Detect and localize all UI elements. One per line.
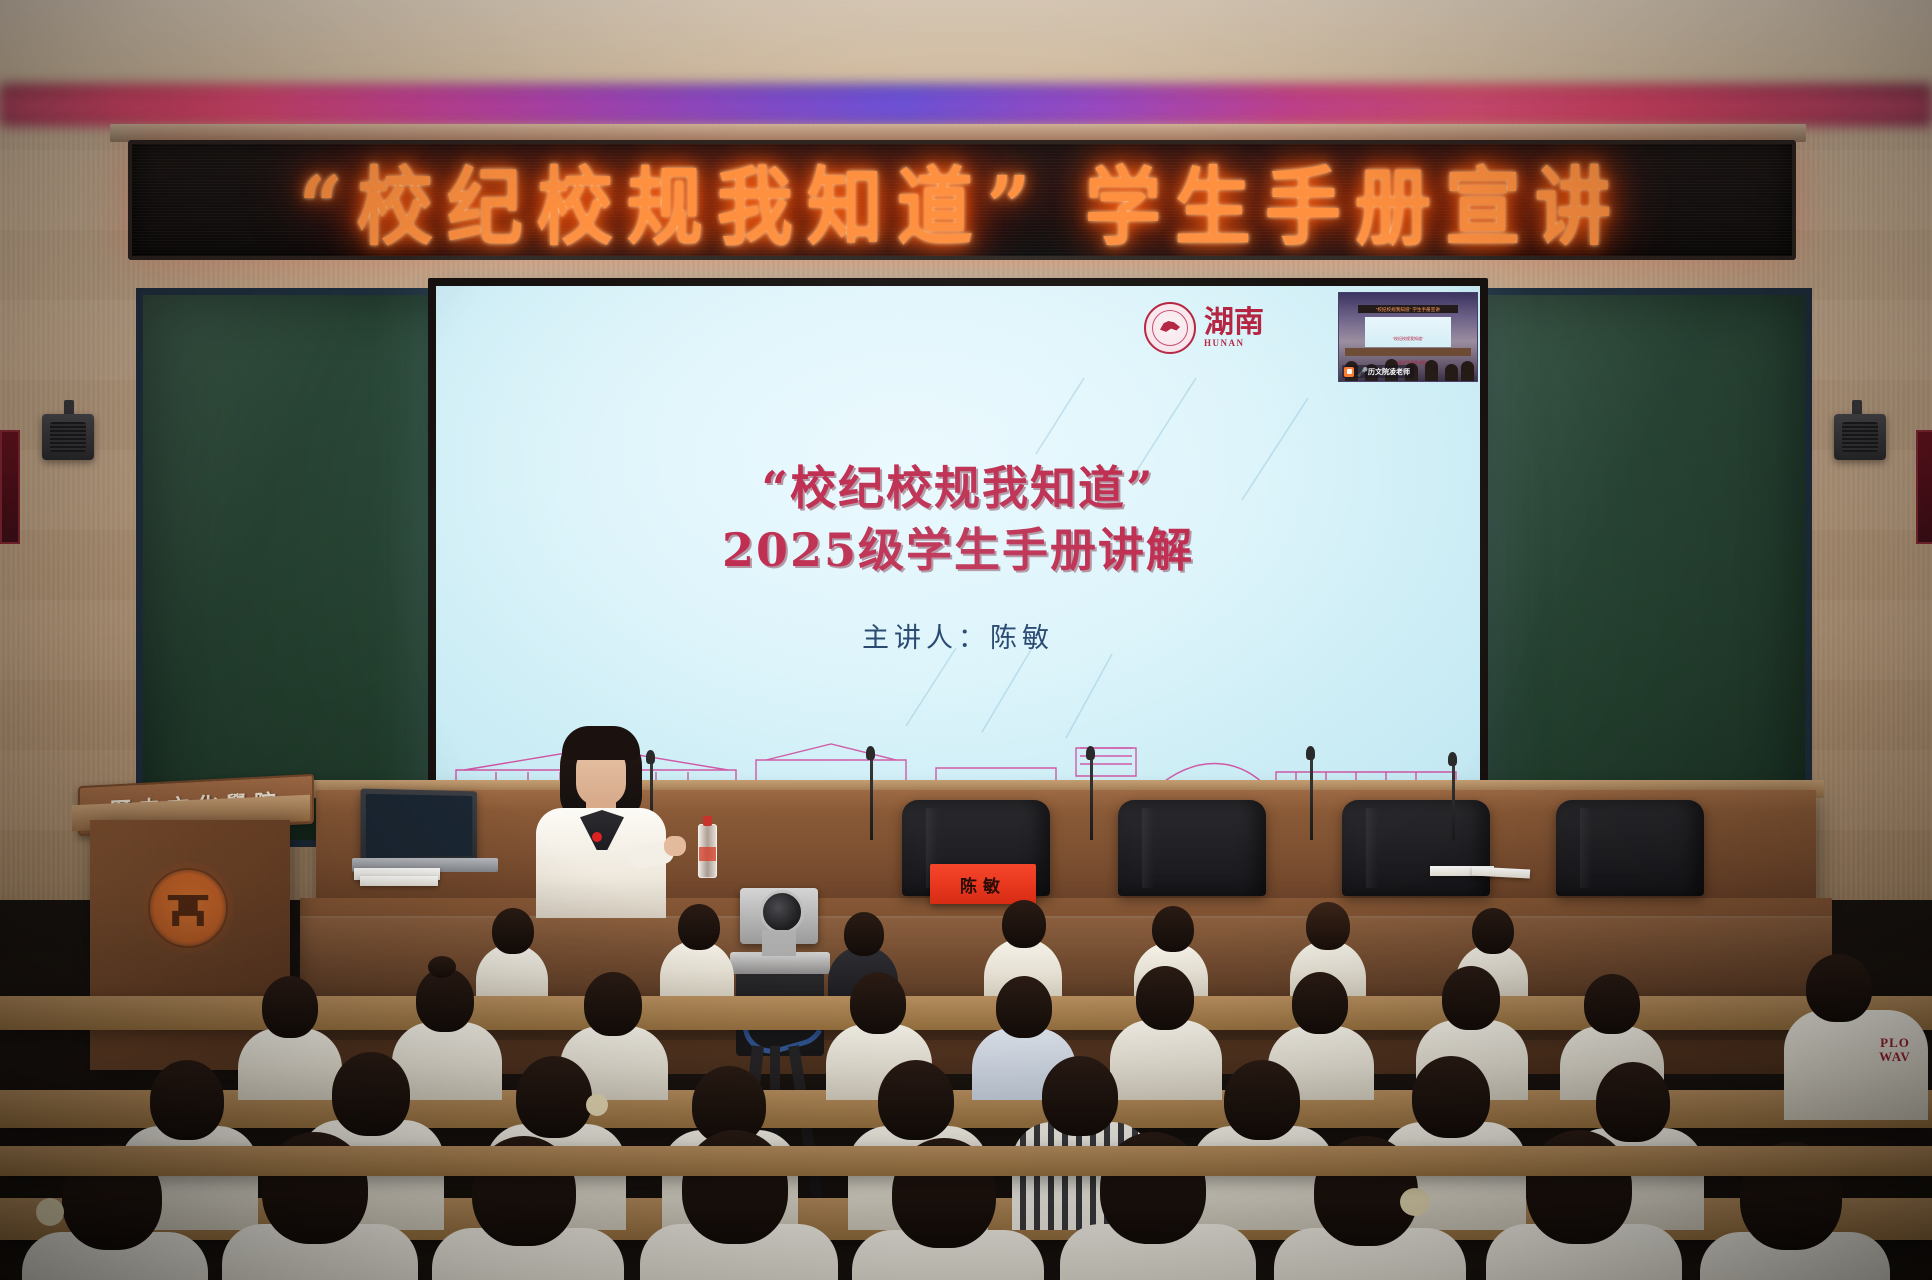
- microphone-stand: [1452, 762, 1455, 840]
- wall-panel-right: [1916, 430, 1932, 544]
- audience-head: [1306, 902, 1350, 950]
- pip-participant-name: 历文院凌老师: [1368, 367, 1410, 377]
- wall-panel-left: [0, 430, 20, 544]
- audience-head: [150, 1060, 224, 1140]
- laptop-display: [366, 794, 472, 858]
- audience-head: [1584, 974, 1640, 1034]
- audience-head: [844, 912, 884, 956]
- audience-head: [262, 976, 318, 1038]
- water-bottle: [698, 824, 717, 878]
- wall-speaker-left: [42, 414, 94, 460]
- audience-head: [332, 1052, 410, 1136]
- audience-head: [1152, 906, 1194, 952]
- microphone-stand: [1090, 756, 1093, 840]
- seal-icon: [1144, 302, 1196, 354]
- chalkboard-sheen-right: [1487, 295, 1805, 840]
- slide-speaker-line: 主讲人：陈敏: [436, 616, 1480, 655]
- slide-title-line1: “校纪校规我知道”: [436, 458, 1480, 520]
- audience-head: [1292, 972, 1348, 1034]
- video-call-overlay[interactable]: “校纪校规我知道” 学生手册宣讲 “校纪校规我知道” 2025级学生手册讲解 🎤…: [1338, 292, 1478, 382]
- audience-head: [1596, 1062, 1670, 1142]
- audience-head: [1136, 966, 1194, 1030]
- pip-slide: “校纪校规我知道” 2025级学生手册讲解: [1365, 317, 1451, 347]
- hair-tie: [1400, 1188, 1430, 1216]
- hair-tie: [36, 1198, 64, 1226]
- slide-title: “校纪校规我知道” 2025级学生手册讲解: [436, 458, 1480, 581]
- presenter-hand: [664, 836, 686, 856]
- front-desk-row: [0, 1146, 1932, 1176]
- pip-banner: “校纪校规我知道” 学生手册宣讲: [1358, 305, 1457, 313]
- slide-title-line2: 2025级学生手册讲解: [436, 520, 1480, 582]
- audience-head: [878, 1060, 954, 1140]
- shirt-text-line2: WAV: [1862, 1050, 1928, 1064]
- shirt-text: PLO WAV: [1862, 1036, 1928, 1064]
- pip-banner-text: “校纪校规我知道” 学生手册宣讲: [1376, 306, 1440, 312]
- audience-person: [1784, 1010, 1928, 1120]
- microphone-stand: [1310, 756, 1313, 840]
- audience-head: [996, 976, 1052, 1038]
- hair-bun: [428, 956, 456, 978]
- audience-head: [584, 972, 642, 1036]
- meeting-app-icon: [1344, 367, 1354, 377]
- shirt-text-line1: PLO: [1862, 1036, 1928, 1050]
- audience-person: [1110, 1020, 1222, 1100]
- audience-head: [678, 904, 720, 950]
- chalkboard-sheen-left: [143, 295, 453, 840]
- audience-head: [1224, 1060, 1300, 1140]
- presenter-badge: [592, 832, 602, 842]
- audience-head: [1472, 908, 1514, 954]
- audience-area: PLO WAV: [0, 880, 1932, 1280]
- audience-person: [1192, 1126, 1334, 1230]
- audience-head: [492, 908, 534, 954]
- laptop-screen: [361, 789, 477, 864]
- audience-head: [850, 972, 906, 1034]
- led-banner: “校纪校规我知道” 学生手册宣讲: [128, 140, 1796, 260]
- microphone-head: [1448, 752, 1457, 766]
- pip-participant-label: 🎤 历文院凌老师: [1342, 365, 1414, 378]
- microphone-head: [866, 746, 875, 760]
- chalkboard-left: [136, 288, 460, 847]
- audience-head: [1042, 1056, 1118, 1136]
- audience-person: [238, 1028, 342, 1100]
- microphone-head: [1086, 746, 1095, 760]
- wall-speaker-right: [1834, 414, 1886, 460]
- audience-head: [1412, 1056, 1490, 1138]
- audience-head: [516, 1056, 592, 1138]
- microphone-icon: 🎤: [1357, 367, 1365, 377]
- slide-university-logo: 湖南 HUNAN: [1144, 298, 1334, 358]
- chalkboard-right: [1480, 288, 1812, 847]
- audience-head: [1442, 966, 1500, 1030]
- microphone-stand: [870, 756, 873, 840]
- hair-tie: [586, 1094, 608, 1116]
- lecture-hall-photo: “校纪校规我知道” 学生手册宣讲 湖南 HUNAN: [0, 0, 1932, 1280]
- ceiling-light-strip-core: [0, 96, 1932, 116]
- pip-slide-line1: “校纪校规我知道”: [1365, 336, 1451, 342]
- logo-wordmark: 湖南: [1204, 308, 1264, 338]
- seal-glyph: [1160, 320, 1180, 336]
- presenter-bangs: [562, 726, 640, 760]
- led-banner-text: “校纪校规我知道” 学生手册宣讲: [299, 140, 1625, 260]
- audience-head: [1806, 954, 1872, 1022]
- microphone-head: [1306, 746, 1315, 760]
- audience-head: [1002, 900, 1046, 948]
